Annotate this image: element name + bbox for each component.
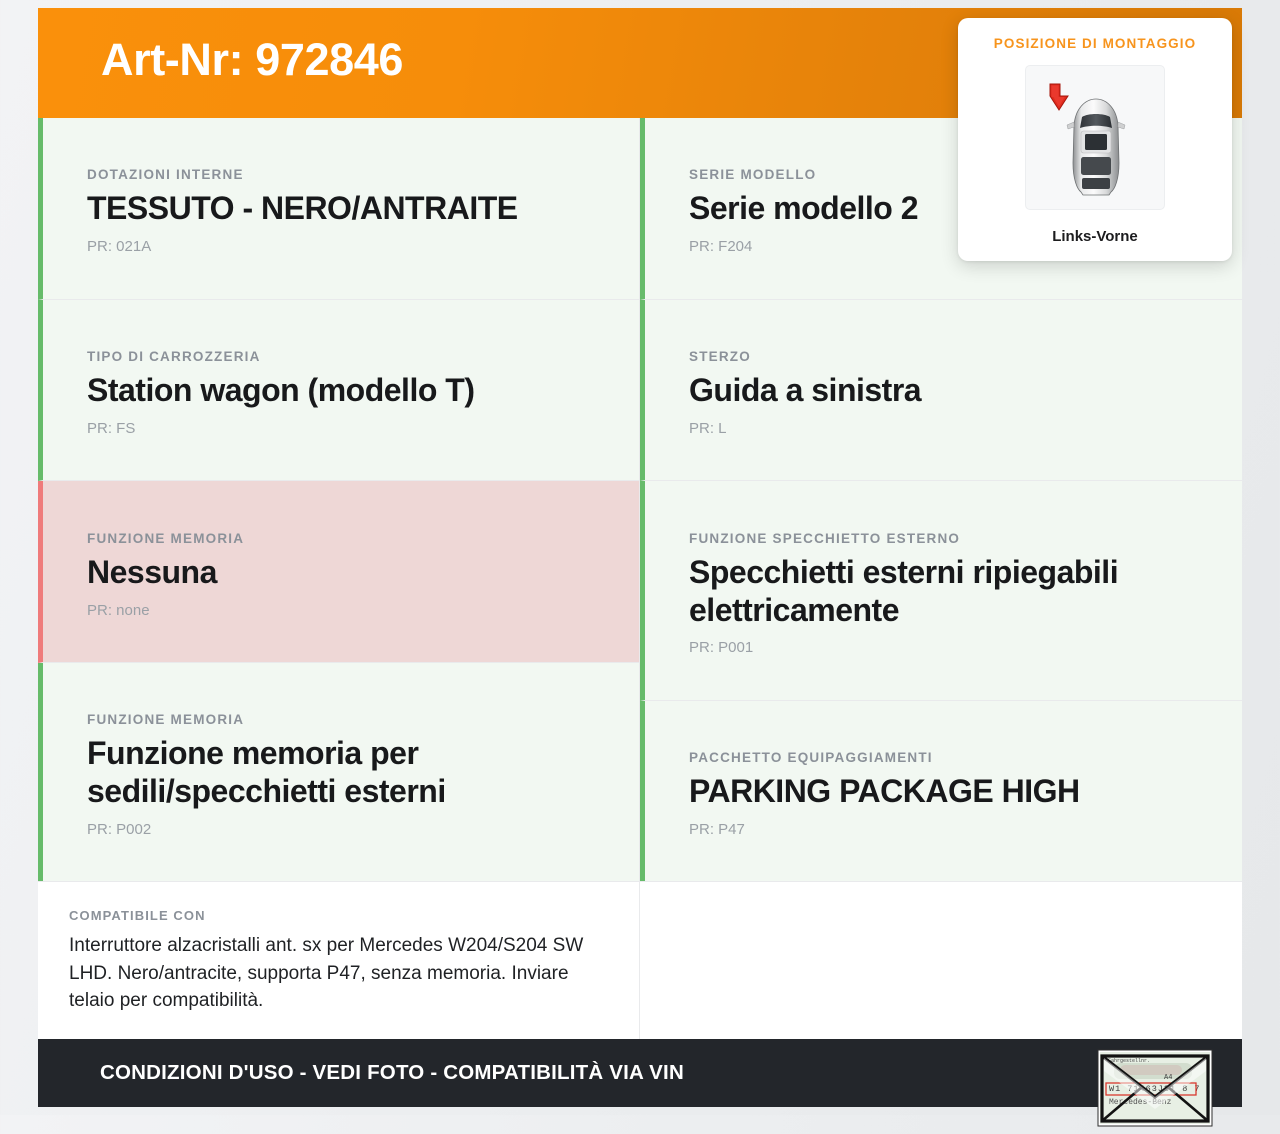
- spec-card-negative[interactable]: FUNZIONE MEMORIA Nessuna PR: none: [38, 481, 639, 663]
- spec-column-left: DOTAZIONI INTERNE TESSUTO - NERO/ANTRAIT…: [38, 118, 640, 881]
- spec-label: FUNZIONE SPECCHIETTO ESTERNO: [689, 531, 1198, 546]
- spec-value: Specchietti esterni ripiegabili elettric…: [689, 554, 1198, 630]
- spec-value: TESSUTO - NERO/ANTRAITE: [87, 190, 595, 228]
- envelope-vin-document-icon[interactable]: Fahrgestellnr. A4 W1 71463J31 8 7 Merced…: [1090, 1047, 1220, 1129]
- compatibility-text: Interruttore alzacristalli ant. sx per M…: [69, 932, 589, 1015]
- compatibility-cell: COMPATIBILE CON Interruttore alzacristal…: [38, 882, 640, 1039]
- spec-pr-code: PR: P47: [689, 821, 1198, 838]
- spec-card[interactable]: FUNZIONE SPECCHIETTO ESTERNO Specchietti…: [640, 481, 1242, 700]
- mounting-position-title: POSIZIONE DI MONTAGGIO: [974, 36, 1216, 51]
- spec-pr-code: PR: FS: [87, 420, 595, 437]
- product-sheet: Art-Nr: 972846 POSIZIONE DI MONTAGGIO: [38, 8, 1242, 1107]
- spec-card[interactable]: STERZO Guida a sinistra PR: L: [640, 300, 1242, 482]
- compatibility-row: COMPATIBILE CON Interruttore alzacristal…: [38, 881, 1242, 1039]
- spec-value: Nessuna: [87, 554, 595, 592]
- spec-pr-code: PR: P002: [87, 821, 595, 838]
- spec-label: FUNZIONE MEMORIA: [87, 712, 595, 727]
- spec-value: PARKING PACKAGE HIGH: [689, 773, 1198, 811]
- compatibility-empty-cell: [640, 882, 1242, 1039]
- spec-card[interactable]: TIPO DI CARROZZERIA Station wagon (model…: [38, 300, 639, 482]
- footer-terms-text: CONDIZIONI D'USO - VEDI FOTO - COMPATIBI…: [100, 1061, 684, 1085]
- spec-card[interactable]: PACCHETTO EQUIPAGGIAMENTI PARKING PACKAG…: [640, 701, 1242, 882]
- spec-card[interactable]: FUNZIONE MEMORIA Funzione memoria per se…: [38, 663, 639, 881]
- spec-pr-code: PR: 021A: [87, 238, 595, 255]
- mounting-position-figure: [1025, 65, 1165, 210]
- page-title: Art-Nr: 972846: [101, 34, 403, 86]
- spec-value: Funzione memoria per sedili/specchietti …: [87, 735, 557, 811]
- svg-text:A4: A4: [1164, 1074, 1172, 1082]
- spec-label: TIPO DI CARROZZERIA: [87, 349, 595, 364]
- spec-card[interactable]: DOTAZIONI INTERNE TESSUTO - NERO/ANTRAIT…: [38, 118, 639, 300]
- compatibility-block: COMPATIBILE CON Interruttore alzacristal…: [38, 882, 639, 1039]
- spec-pr-code: PR: P001: [689, 639, 1198, 656]
- mounting-position-label: Links-Vorne: [974, 228, 1216, 245]
- arrow-down-right-icon: [1050, 83, 1078, 114]
- spec-pr-code: PR: L: [689, 420, 1198, 437]
- spec-label: STERZO: [689, 349, 1198, 364]
- svg-text:W1 71463J31 8 7: W1 71463J31 8 7: [1109, 1084, 1201, 1094]
- compatibility-label: COMPATIBILE CON: [69, 908, 613, 923]
- mounting-position-card[interactable]: POSIZIONE DI MONTAGGIO: [958, 18, 1232, 261]
- car-top-view-icon: [1026, 66, 1166, 211]
- page-footer: CONDIZIONI D'USO - VEDI FOTO - COMPATIBI…: [38, 1039, 1242, 1107]
- spec-label: PACCHETTO EQUIPAGGIAMENTI: [689, 750, 1198, 765]
- spec-label: FUNZIONE MEMORIA: [87, 531, 595, 546]
- svg-text:Fahrgestellnr.: Fahrgestellnr.: [1108, 1058, 1150, 1064]
- spec-label: DOTAZIONI INTERNE: [87, 167, 595, 182]
- spec-value: Guida a sinistra: [689, 372, 1198, 410]
- spec-value: Station wagon (modello T): [87, 372, 595, 410]
- spec-pr-code: PR: none: [87, 602, 595, 619]
